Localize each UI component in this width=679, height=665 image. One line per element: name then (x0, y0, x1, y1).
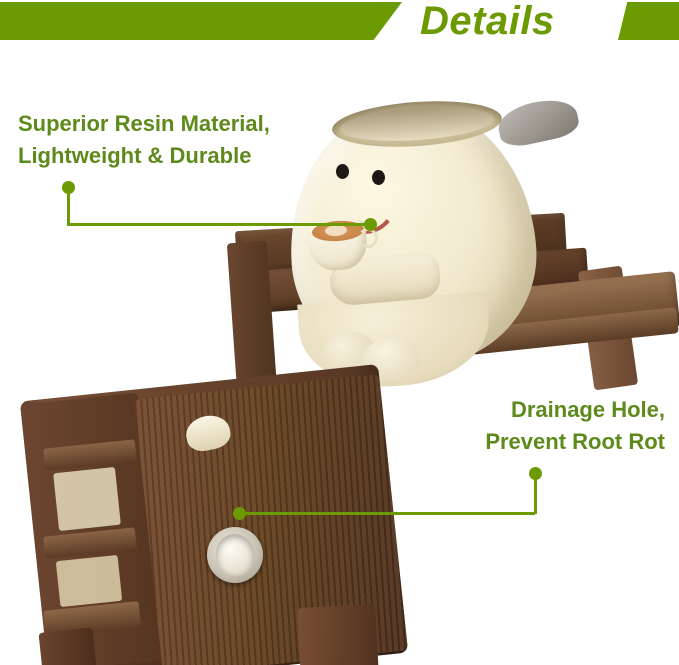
bench-gap-upper (53, 467, 121, 531)
bench-gap-lower (56, 555, 122, 607)
bench-leg-left (38, 627, 99, 665)
planter-eye-left (336, 164, 349, 179)
page-title: Details (420, 0, 620, 44)
callout-drainage: Drainage Hole, Prevent Root Rot (485, 394, 665, 458)
banner-bar-right-icon (618, 2, 679, 40)
banner-bar-left-icon (0, 2, 402, 40)
planter-eye-right (372, 170, 385, 185)
leader-horizontal (67, 223, 370, 226)
details-banner: Details (0, 0, 679, 46)
bench-leg-right (297, 604, 381, 665)
callout-drainage-line1: Drainage Hole, (485, 394, 665, 426)
callout-drainage-line2: Prevent Root Rot (485, 426, 665, 458)
leader-dot-target (233, 507, 246, 520)
callout-material: Superior Resin Material, Lightweight & D… (18, 108, 270, 172)
leader-dot-target (364, 218, 377, 231)
leader-vertical (67, 187, 70, 225)
callout-material-line2: Lightweight & Durable (18, 140, 270, 172)
leader-vertical (534, 473, 537, 514)
callout-material-line1: Superior Resin Material, (18, 108, 270, 140)
product-detail-image: Details (0, 0, 679, 665)
leader-horizontal (239, 512, 535, 515)
planter-tuft (495, 94, 582, 150)
